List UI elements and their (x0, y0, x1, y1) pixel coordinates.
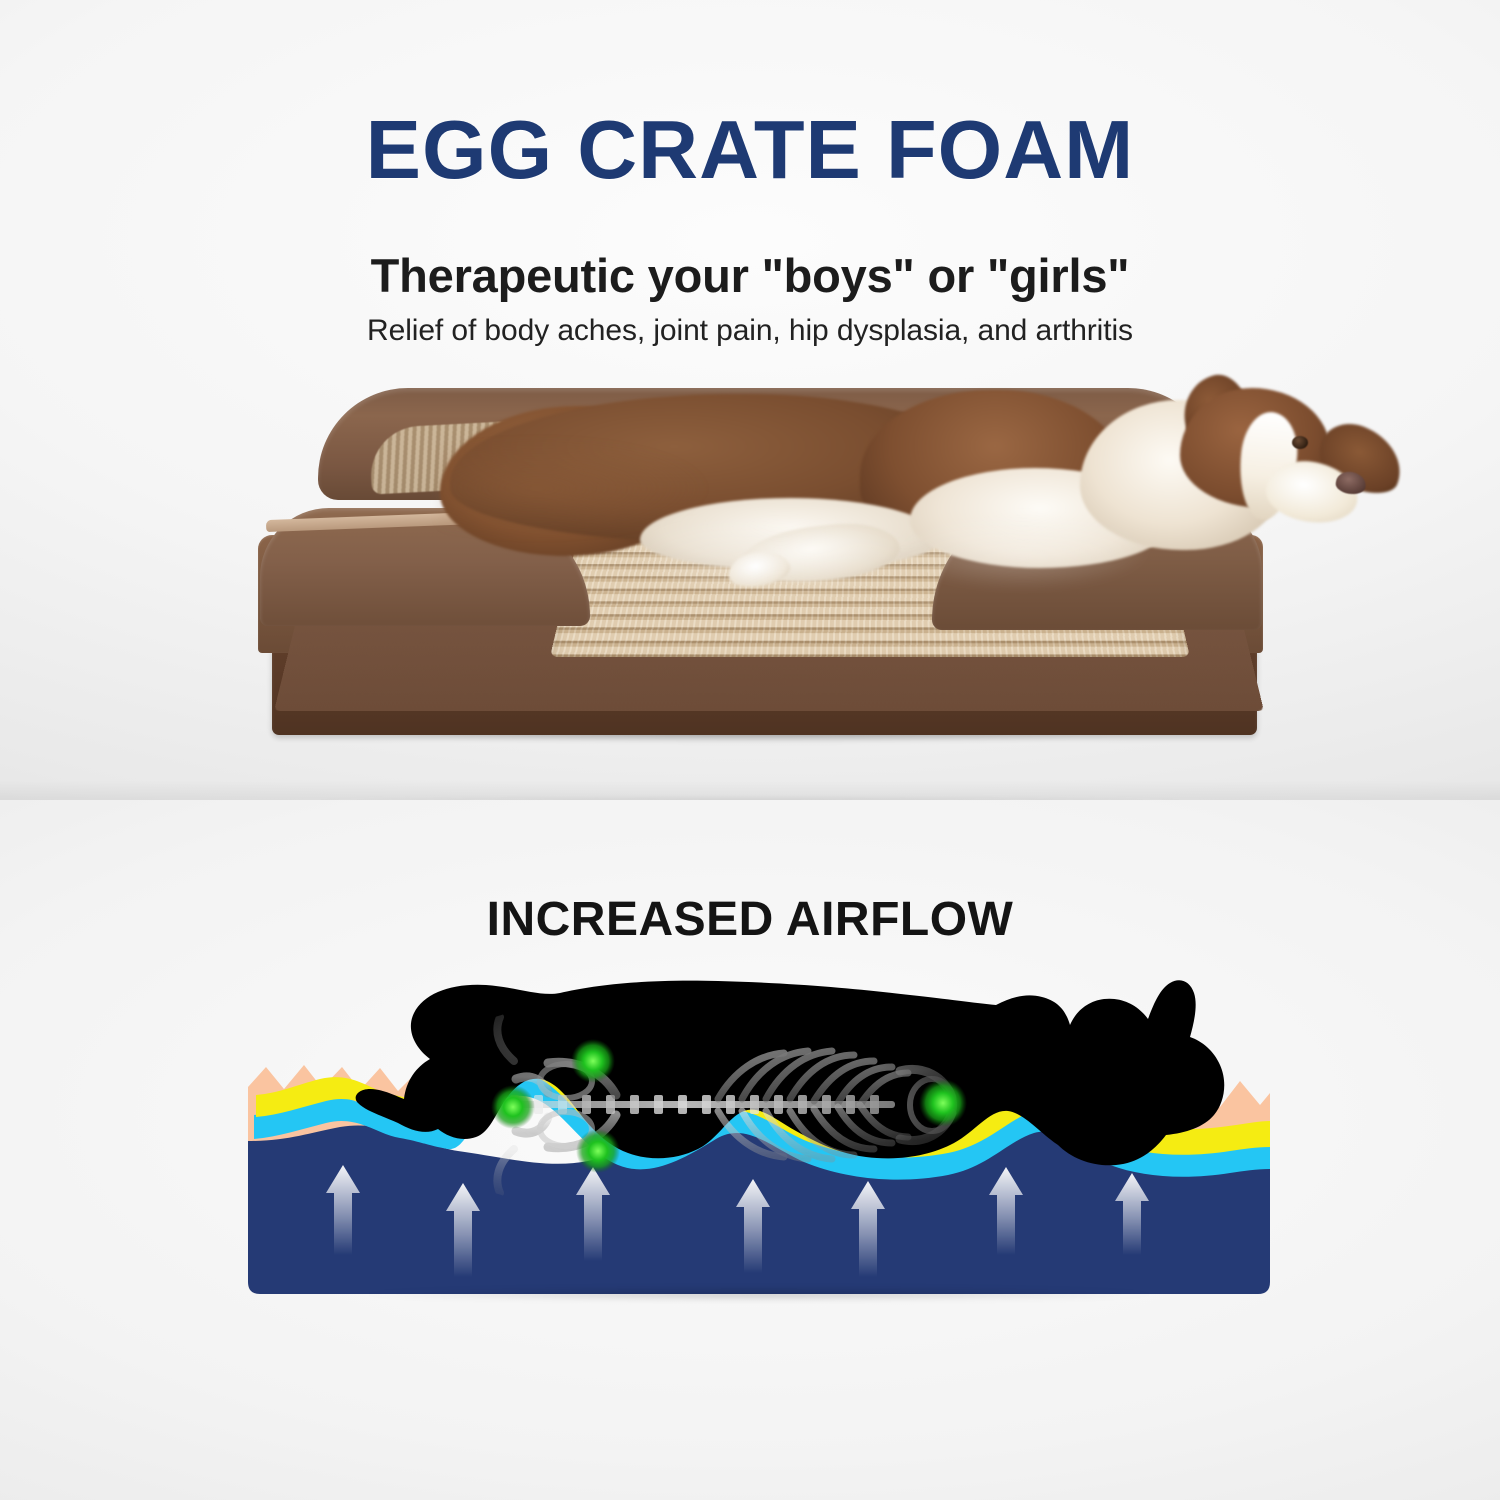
pressure-point-3 (576, 1129, 620, 1173)
page-title: EGG CRATE FOAM (0, 108, 1500, 191)
pressure-point-1 (571, 1039, 615, 1083)
dog-eye (1292, 436, 1308, 449)
airflow-title: INCREASED AIRFLOW (0, 892, 1500, 947)
egg-crate-foam-section: EGG CRATE FOAM Therapeutic your "boys" o… (0, 0, 1500, 800)
airflow-ground-shadow (254, 1287, 1264, 1305)
airflow-diagram (248, 955, 1270, 1300)
section-subtitle: Therapeutic your "boys" or "girls" (0, 250, 1500, 302)
increased-airflow-section: INCREASED AIRFLOW (0, 800, 1500, 1500)
airflow-cross-section-svg (248, 955, 1270, 1300)
infographic-page: EGG CRATE FOAM Therapeutic your "boys" o… (0, 0, 1500, 1500)
section-description: Relief of body aches, joint pain, hip dy… (0, 314, 1500, 349)
product-photo-dog-bed (250, 380, 1270, 780)
dog-photo (440, 376, 1250, 626)
pressure-point-2 (491, 1085, 535, 1129)
pressure-point-4 (919, 1079, 967, 1127)
